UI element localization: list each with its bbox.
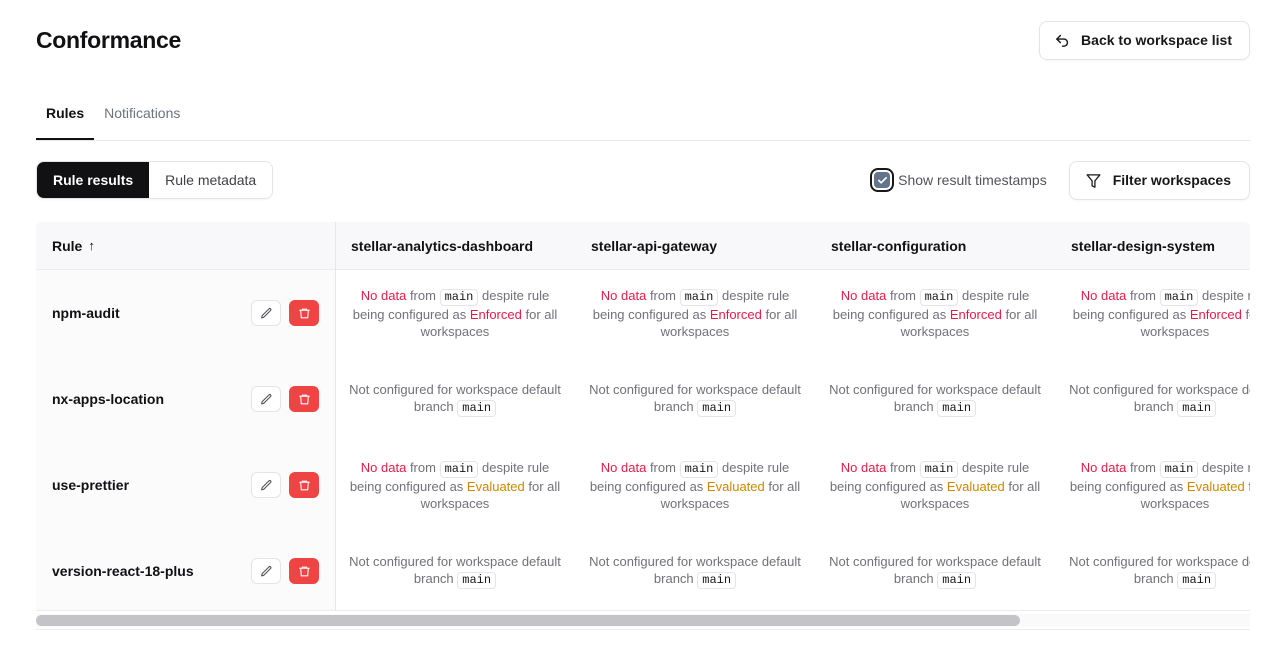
no-data-text: No data [361, 288, 407, 303]
tab-rules-label: Rules [46, 105, 84, 121]
result-cell: No data from main despite rule being con… [1055, 442, 1250, 528]
rule-name: version-react-18-plus [52, 563, 194, 580]
table-row: nx-apps-locationNot configured for works… [36, 356, 1250, 442]
column-header-rule[interactable]: Rule ↑ [36, 222, 335, 269]
rule-status-text: Enforced [710, 307, 762, 322]
segment-rule-metadata-label: Rule metadata [165, 172, 256, 188]
column-header-stellar-configuration[interactable]: stellar-configuration [815, 222, 1055, 269]
back-arrow-icon [1054, 32, 1071, 49]
branch-chip: main [697, 572, 736, 589]
rule-status-text: Enforced [950, 307, 1002, 322]
trash-icon [298, 479, 311, 492]
rule-name: npm-audit [52, 305, 120, 322]
result-cell: Not configured for workspace default bra… [335, 356, 575, 442]
funnel-icon [1085, 172, 1102, 189]
result-cell: Not configured for workspace default bra… [815, 528, 1055, 610]
delete-rule-button[interactable] [289, 386, 319, 412]
rule-status-text: Evaluated [947, 479, 1005, 494]
branch-chip: main [457, 572, 496, 589]
no-data-text: No data [601, 288, 647, 303]
result-cell-text: Not configured for workspace default bra… [587, 381, 803, 417]
result-cell-text: Not configured for workspace default bra… [347, 381, 563, 417]
branch-chip: main [680, 461, 719, 478]
result-cell: No data from main despite rule being con… [815, 442, 1055, 528]
result-cell-text: No data from main despite rule being con… [827, 287, 1043, 340]
rule-status-text: Enforced [470, 307, 522, 322]
branch-chip: main [697, 400, 736, 417]
tab-notifications-label: Notifications [104, 105, 180, 121]
result-cell: Not configured for workspace default bra… [575, 528, 815, 610]
view-mode-segmented-control: Rule results Rule metadata [36, 161, 273, 199]
filter-workspaces-button[interactable]: Filter workspaces [1069, 161, 1250, 200]
no-data-text: No data [1081, 460, 1127, 475]
row-actions [251, 300, 319, 326]
rule-status-text: Enforced [1190, 307, 1242, 322]
show-result-timestamps-label: Show result timestamps [898, 172, 1047, 188]
segment-rule-results[interactable]: Rule results [37, 162, 149, 198]
pencil-icon [260, 479, 273, 492]
rule-name-cell: nx-apps-location [36, 356, 335, 442]
page-title: Conformance [36, 27, 181, 54]
no-data-text: No data [1081, 288, 1127, 303]
checkbox-checked-icon[interactable] [874, 172, 890, 188]
conformance-page: Conformance Back to workspace list Rules… [0, 0, 1286, 667]
column-header-stellar-api-gateway[interactable]: stellar-api-gateway [575, 222, 815, 269]
result-cell: No data from main despite rule being con… [335, 270, 575, 356]
result-cell-text: Not configured for workspace default bra… [1067, 381, 1250, 417]
edit-rule-button[interactable] [251, 300, 281, 326]
trash-icon [298, 565, 311, 578]
edit-rule-button[interactable] [251, 558, 281, 584]
table-bottom-border [36, 610, 1250, 611]
row-actions [251, 386, 319, 412]
segment-rule-metadata[interactable]: Rule metadata [149, 162, 272, 198]
branch-chip: main [440, 289, 479, 306]
result-cell-text: Not configured for workspace default bra… [587, 553, 803, 589]
delete-rule-button[interactable] [289, 558, 319, 584]
results-table-scroll-viewport[interactable]: Rule ↑ stellar-analytics-dashboard stell… [36, 222, 1250, 610]
result-cell: No data from main despite rule being con… [575, 442, 815, 528]
table-row: use-prettierNo data from main despite ru… [36, 442, 1250, 528]
result-cell: No data from main despite rule being con… [575, 270, 815, 356]
result-cell: Not configured for workspace default bra… [815, 356, 1055, 442]
table-header-row: Rule ↑ stellar-analytics-dashboard stell… [36, 222, 1250, 270]
edit-rule-button[interactable] [251, 472, 281, 498]
show-result-timestamps-checkbox[interactable]: Show result timestamps [874, 172, 1047, 188]
segment-rule-results-label: Rule results [53, 172, 133, 188]
results-table: Rule ↑ stellar-analytics-dashboard stell… [36, 222, 1250, 610]
no-data-text: No data [361, 460, 407, 475]
trash-icon [298, 307, 311, 320]
filter-workspaces-label: Filter workspaces [1113, 172, 1231, 188]
page-header: Conformance Back to workspace list [0, 0, 1286, 80]
controls-row: Rule results Rule metadata Show result t… [0, 160, 1286, 200]
result-cell-text: No data from main despite rule being con… [347, 287, 563, 340]
no-data-text: No data [841, 288, 887, 303]
result-cell-text: No data from main despite rule being con… [347, 459, 563, 512]
result-cell: No data from main despite rule being con… [335, 442, 575, 528]
result-cell-text: No data from main despite rule being con… [587, 287, 803, 340]
back-button-label: Back to workspace list [1081, 32, 1232, 48]
tab-rules[interactable]: Rules [36, 104, 94, 140]
result-cell-text: No data from main despite rule being con… [1067, 459, 1250, 512]
result-cell-text: No data from main despite rule being con… [587, 459, 803, 512]
row-actions [251, 558, 319, 584]
rule-status-text: Evaluated [467, 479, 525, 494]
branch-chip: main [920, 461, 959, 478]
result-cell-text: Not configured for workspace default bra… [347, 553, 563, 589]
row-actions [251, 472, 319, 498]
result-cell-text: Not configured for workspace default bra… [1067, 553, 1250, 589]
pencil-icon [260, 393, 273, 406]
rule-status-text: Evaluated [707, 479, 765, 494]
no-data-text: No data [601, 460, 647, 475]
rule-name-cell: version-react-18-plus [36, 528, 335, 610]
no-data-text: No data [841, 460, 887, 475]
delete-rule-button[interactable] [289, 300, 319, 326]
column-header-rule-label: Rule [52, 238, 82, 254]
column-header-stellar-analytics-dashboard[interactable]: stellar-analytics-dashboard [335, 222, 575, 269]
horizontal-scrollbar-thumb[interactable] [36, 615, 1020, 626]
branch-chip: main [937, 400, 976, 417]
result-cell-text: Not configured for workspace default bra… [827, 381, 1043, 417]
page-bottom-divider [36, 629, 1250, 630]
rule-name: use-prettier [52, 477, 129, 494]
branch-chip: main [1160, 289, 1199, 306]
tab-notifications[interactable]: Notifications [94, 104, 190, 140]
result-cell: Not configured for workspace default bra… [335, 528, 575, 610]
tab-bar: Rules Notifications [0, 104, 1286, 141]
back-to-workspace-list-button[interactable]: Back to workspace list [1039, 21, 1250, 60]
branch-chip: main [1160, 461, 1199, 478]
result-cell: No data from main despite rule being con… [815, 270, 1055, 356]
pencil-icon [260, 307, 273, 320]
horizontal-scrollbar-track[interactable] [36, 614, 1250, 627]
table-body: npm-auditNo data from main despite rule … [36, 270, 1250, 610]
result-cell: Not configured for workspace default bra… [1055, 356, 1250, 442]
branch-chip: main [680, 289, 719, 306]
result-cell-text: No data from main despite rule being con… [1067, 287, 1250, 340]
table-row: npm-auditNo data from main despite rule … [36, 270, 1250, 356]
result-cell: Not configured for workspace default bra… [575, 356, 815, 442]
rule-name: nx-apps-location [52, 391, 164, 408]
rule-status-text: Evaluated [1187, 479, 1245, 494]
trash-icon [298, 393, 311, 406]
column-header-stellar-design-system[interactable]: stellar-design-system [1055, 222, 1250, 269]
branch-chip: main [440, 461, 479, 478]
pencil-icon [260, 565, 273, 578]
branch-chip: main [1177, 400, 1216, 417]
branch-chip: main [457, 400, 496, 417]
result-cell: Not configured for workspace default bra… [1055, 528, 1250, 610]
result-cell: No data from main despite rule being con… [1055, 270, 1250, 356]
delete-rule-button[interactable] [289, 472, 319, 498]
branch-chip: main [920, 289, 959, 306]
sort-ascending-icon: ↑ [88, 238, 95, 253]
right-controls: Show result timestamps Filter workspaces [874, 161, 1250, 200]
result-cell-text: Not configured for workspace default bra… [827, 553, 1043, 589]
branch-chip: main [1177, 572, 1216, 589]
result-cell-text: No data from main despite rule being con… [827, 459, 1043, 512]
edit-rule-button[interactable] [251, 386, 281, 412]
table-row: version-react-18-plusNot configured for … [36, 528, 1250, 610]
rule-name-cell: npm-audit [36, 270, 335, 356]
branch-chip: main [937, 572, 976, 589]
rule-name-cell: use-prettier [36, 442, 335, 528]
